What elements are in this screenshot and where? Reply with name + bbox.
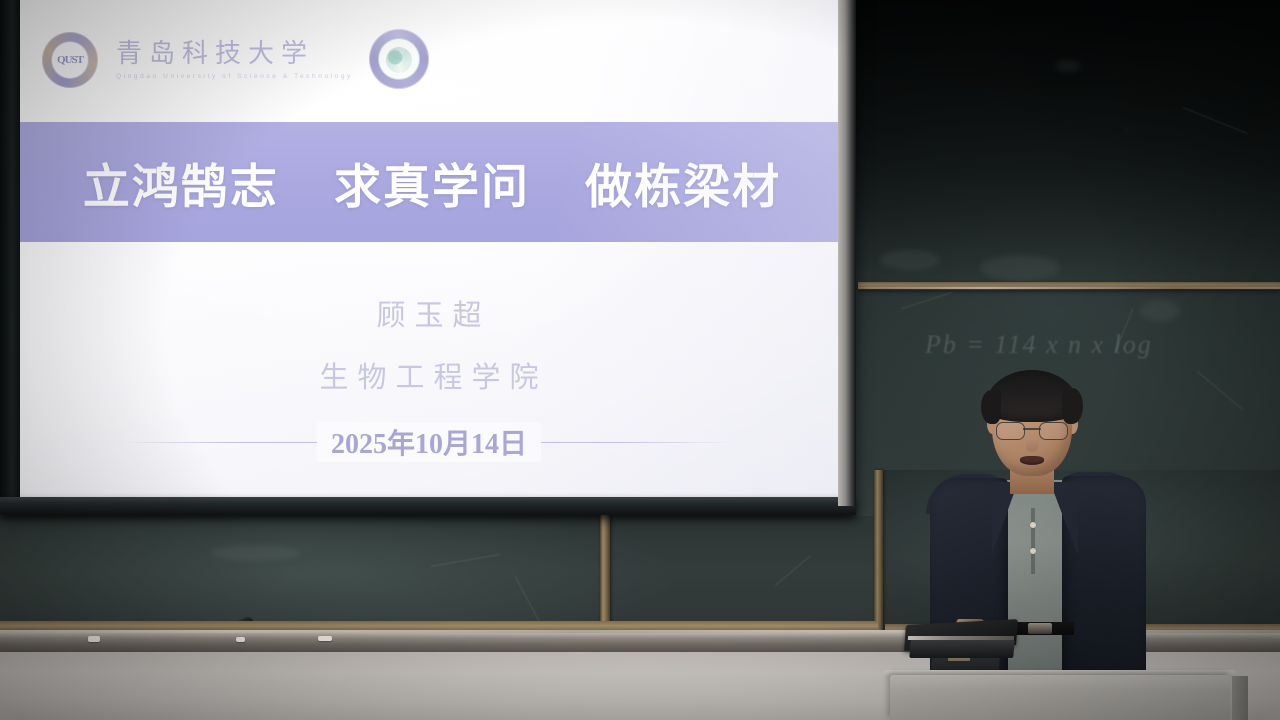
- speaker-hair: [985, 370, 1079, 422]
- speaker-shirt-placket: [1031, 508, 1035, 574]
- speaker-shirt-button: [1030, 548, 1036, 554]
- slide-title: 立鸿鹄志 求真学问 做栋梁材: [83, 148, 781, 217]
- projection-screen-right-edge: [838, 0, 856, 506]
- projection-screen-bottom-bar: [0, 497, 856, 515]
- speaker-lapel-right: [1050, 482, 1078, 556]
- chalk-piece[interactable]: [88, 636, 100, 642]
- projection-screen-frame-left: [0, 0, 22, 514]
- university-name-en: Qingdao University of Science & Technolo…: [116, 73, 353, 80]
- chalk-piece[interactable]: [318, 636, 332, 641]
- speaker-belt-buckle: [1028, 623, 1052, 634]
- slide-header: QUST 青岛科技大学 Qingdao University of Scienc…: [20, 0, 838, 122]
- slide-title-banner: 立鸿鹄志 求真学问 做栋梁材: [20, 122, 838, 242]
- university-name-cn: 青岛科技大学: [116, 40, 353, 67]
- blackboard-lower-left-panel: [0, 516, 880, 638]
- speaker-shirt-button: [1030, 522, 1036, 528]
- blackboard-divider-right: [874, 470, 883, 645]
- laptop-base[interactable]: [909, 640, 1015, 658]
- podium-side: [1232, 676, 1248, 720]
- presentation-slide[interactable]: QUST 青岛科技大学 Qingdao University of Scienc…: [20, 0, 838, 498]
- college-seal-icon: [369, 29, 429, 89]
- glasses-icon: [996, 422, 1068, 439]
- presenter-name: 顾玉超: [376, 292, 490, 334]
- chalk-piece[interactable]: [236, 637, 245, 642]
- qust-seal-icon: QUST: [42, 32, 98, 88]
- glasses-lens-right: [1039, 422, 1068, 440]
- slide-date: 2025年10月14日: [317, 422, 541, 462]
- lecture-scene: Pb = 114 x n x log QUST 青岛科技大学 Qingdao U: [0, 0, 1280, 720]
- speaker-mouth: [1020, 456, 1044, 465]
- slide-date-row: 2025年10月14日: [119, 422, 739, 462]
- slide-body: 顾玉超 生物工程学院 2025年10月14日: [20, 242, 838, 498]
- podium: 青岛科技大学: [890, 675, 1230, 720]
- department-name: 生物工程学院: [319, 354, 547, 396]
- glasses-lens-left: [996, 422, 1025, 440]
- blackboard-rail-highlight: [858, 287, 1280, 289]
- university-name-block: 青岛科技大学 Qingdao University of Science & T…: [116, 40, 353, 79]
- qust-seal-mark: QUST: [51, 41, 89, 79]
- speaker-nose: [1026, 438, 1038, 452]
- college-seal-mark: [386, 47, 412, 73]
